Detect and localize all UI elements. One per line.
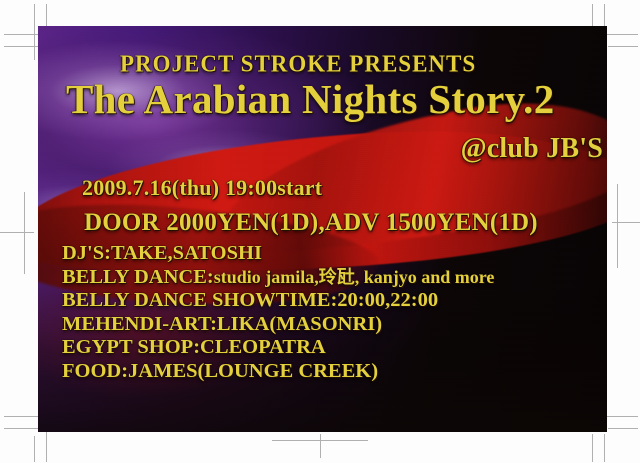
event-date-time: 2009.7.16(thu) 19:00start: [82, 176, 322, 199]
registration-crosshair-left-vertical: [24, 192, 25, 274]
lineup-label: BELLY DANCE:: [62, 266, 214, 288]
lineup-label: MEHENDI-ART:LIKA(MASONRI): [62, 313, 382, 335]
presents-headline: PROJECT STROKE PRESENTS: [120, 52, 476, 77]
lineup-item-egypt-shop: EGYPT SHOP:CLEOPATRA: [62, 336, 607, 360]
crop-mark-top-left-vertical-outer: [34, 4, 35, 60]
registration-crosshair-right-vertical: [617, 184, 618, 268]
crop-mark-top-right-horizontal-inner: [608, 46, 638, 47]
lineup-item-mehendi-art: MEHENDI-ART:LIKA(MASONRI): [62, 313, 607, 337]
lineup-label: FOOD:JAMES(LOUNGE CREEK): [62, 360, 378, 382]
event-flyer-artwork: PROJECT STROKE PRESENTS The Arabian Nigh…: [38, 26, 607, 432]
lineup-item-belly-dance: BELLY DANCE:studio jamila,玲瓧, kanjyo and…: [62, 266, 607, 290]
crop-mark-bottom-left-vertical-inner: [46, 430, 47, 462]
lineup-item-showtime: BELLY DANCE SHOWTIME:20:00,22:00: [62, 289, 607, 313]
ticket-price: DOOR 2000YEN(1D),ADV 1500YEN(1D): [84, 210, 538, 237]
lineup-label: BELLY DANCE SHOWTIME:20:00,22:00: [62, 289, 438, 311]
registration-crosshair-left-horizontal: [0, 232, 34, 233]
crop-mark-bottom-left-horizontal-inner: [4, 428, 40, 429]
crop-mark-bottom-right-horizontal-inner: [608, 428, 638, 429]
lineup-item-food: FOOD:JAMES(LOUNGE CREEK): [62, 360, 607, 384]
crop-mark-bottom-right-vertical-outer: [604, 434, 605, 462]
lineup-item-djs: DJ'S:TAKE,SATOSHI: [62, 242, 607, 266]
lineup-label: EGYPT SHOP:CLEOPATRA: [62, 336, 326, 358]
event-title: The Arabian Nights Story.2: [66, 78, 555, 121]
crop-mark-bottom-left-vertical-outer: [34, 436, 35, 462]
lineup-list: DJ'S:TAKE,SATOSHI BELLY DANCE:studio jam…: [62, 242, 607, 383]
registration-crosshair-bottom-vertical: [320, 434, 321, 458]
lineup-label: DJ'S:TAKE,SATOSHI: [62, 242, 262, 264]
scanned-flyer-sheet: PROJECT STROKE PRESENTS The Arabian Nigh…: [0, 0, 640, 463]
lineup-detail: studio jamila,玲瓧, kanjyo and more: [214, 267, 495, 287]
crop-mark-bottom-right-vertical-inner: [592, 434, 593, 462]
venue-name: @club JB'S: [461, 134, 603, 164]
